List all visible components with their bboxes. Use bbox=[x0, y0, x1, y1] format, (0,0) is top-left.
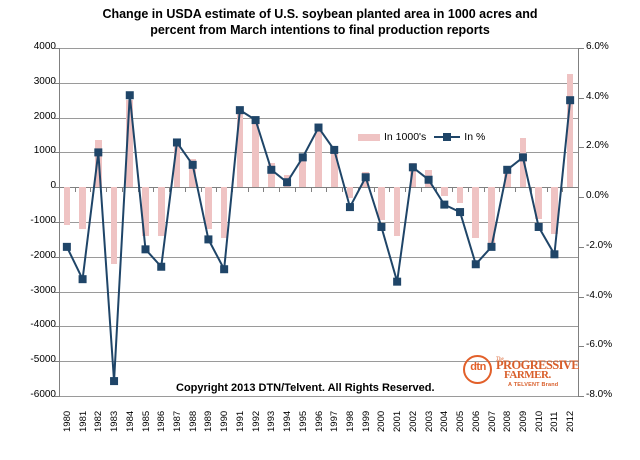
percent-marker-2010 bbox=[535, 223, 543, 231]
x-axis-label-1984: 1984 bbox=[125, 400, 136, 432]
percent-marker-1992 bbox=[252, 116, 260, 124]
x-axis-label-1985: 1985 bbox=[141, 400, 152, 432]
x-axis-tickmark bbox=[578, 187, 579, 192]
logo-farmer-text: FARMER. bbox=[504, 370, 551, 381]
y-axis-right-tick-label: -2.0% bbox=[586, 240, 612, 251]
percent-marker-2005 bbox=[456, 208, 464, 216]
y-axis-left-tickmark bbox=[54, 152, 60, 153]
percent-marker-1989 bbox=[204, 235, 212, 243]
y-axis-right-tick-label: 2.0% bbox=[586, 140, 609, 151]
percent-marker-1984 bbox=[126, 91, 134, 99]
percent-marker-2007 bbox=[488, 243, 496, 251]
x-axis-label-1992: 1992 bbox=[251, 400, 262, 432]
x-axis-label-2010: 2010 bbox=[534, 400, 545, 432]
chart-root: Change in USDA estimate of U.S. soybean … bbox=[0, 0, 640, 460]
percent-marker-2009 bbox=[519, 153, 527, 161]
x-axis-label-2000: 2000 bbox=[376, 400, 387, 432]
y-axis-right-tickmark bbox=[578, 98, 584, 99]
x-axis-label-1990: 1990 bbox=[219, 400, 230, 432]
legend-label-bar: In 1000's bbox=[384, 131, 426, 143]
x-axis-label-1995: 1995 bbox=[298, 400, 309, 432]
x-axis-label-2005: 2005 bbox=[455, 400, 466, 432]
percent-marker-2002 bbox=[409, 163, 417, 171]
y-axis-left-tick-label: -4000 bbox=[30, 319, 56, 330]
x-axis-label-1983: 1983 bbox=[109, 400, 120, 432]
y-axis-right-tickmark bbox=[578, 396, 584, 397]
logo-telvent-brand-text: A TELVENT Brand bbox=[508, 382, 558, 388]
x-axis-label-1981: 1981 bbox=[78, 400, 89, 432]
y-axis-left-tick-label: 0 bbox=[50, 180, 56, 191]
y-axis-right-tick-label: -8.0% bbox=[586, 389, 612, 400]
percent-marker-1993 bbox=[267, 166, 275, 174]
x-axis-label-2001: 2001 bbox=[392, 400, 403, 432]
percent-marker-1995 bbox=[299, 153, 307, 161]
dtn-wordmark: dtn bbox=[466, 361, 490, 373]
percent-marker-1981 bbox=[79, 275, 87, 283]
line-series bbox=[59, 48, 578, 396]
y-axis-left-tick-label: -3000 bbox=[30, 285, 56, 296]
y-axis-left-tick-label: 3000 bbox=[34, 76, 56, 87]
y-axis-left-tick-label: -6000 bbox=[30, 389, 56, 400]
percent-line-path bbox=[67, 95, 570, 381]
x-axis-label-1986: 1986 bbox=[156, 400, 167, 432]
x-axis-label-2011: 2011 bbox=[549, 400, 560, 432]
legend-bar-swatch-icon bbox=[358, 134, 380, 141]
x-axis-label-1997: 1997 bbox=[329, 400, 340, 432]
x-axis-label-1989: 1989 bbox=[203, 400, 214, 432]
y-axis-right-tick-label: 0.0% bbox=[586, 190, 609, 201]
y-axis-left-tick-label: 1000 bbox=[34, 145, 56, 156]
percent-marker-1998 bbox=[346, 203, 354, 211]
x-axis-label-2012: 2012 bbox=[565, 400, 576, 432]
y-axis-left-tickmark bbox=[54, 187, 60, 188]
axis-right-spine bbox=[578, 48, 579, 396]
y-axis-left-tickmark bbox=[54, 48, 60, 49]
x-axis-label-1980: 1980 bbox=[62, 400, 73, 432]
x-axis-label-2004: 2004 bbox=[439, 400, 450, 432]
gridline bbox=[59, 396, 578, 397]
percent-marker-1996 bbox=[315, 124, 323, 132]
legend-item-bar: In 1000's bbox=[358, 131, 426, 143]
legend-line-swatch-icon bbox=[434, 132, 460, 142]
percent-marker-2012 bbox=[566, 96, 574, 104]
y-axis-left-tickmark bbox=[54, 118, 60, 119]
chart-title-line1: Change in USDA estimate of U.S. soybean … bbox=[50, 6, 590, 22]
y-axis-left-tickmark bbox=[54, 396, 60, 397]
percent-marker-1999 bbox=[362, 173, 370, 181]
y-axis-left-tickmark bbox=[54, 361, 60, 362]
legend-label-line: In % bbox=[464, 131, 485, 143]
y-axis-right-tick-label: -4.0% bbox=[586, 290, 612, 301]
percent-marker-2011 bbox=[550, 250, 558, 258]
chart-title: Change in USDA estimate of U.S. soybean … bbox=[50, 6, 590, 38]
y-axis-right-tickmark bbox=[578, 48, 584, 49]
percent-marker-2000 bbox=[377, 223, 385, 231]
percent-marker-1986 bbox=[157, 263, 165, 271]
x-axis-label-1987: 1987 bbox=[172, 400, 183, 432]
y-axis-left-tick-label: 4000 bbox=[34, 41, 56, 52]
percent-marker-1980 bbox=[63, 243, 71, 251]
percent-marker-1994 bbox=[283, 178, 291, 186]
x-axis-label-2009: 2009 bbox=[518, 400, 529, 432]
y-axis-right-tick-label: 4.0% bbox=[586, 91, 609, 102]
x-axis-label-2007: 2007 bbox=[487, 400, 498, 432]
x-axis-label-1999: 1999 bbox=[361, 400, 372, 432]
x-axis-label-1988: 1988 bbox=[188, 400, 199, 432]
legend-item-line: In % bbox=[434, 131, 485, 143]
y-axis-left-tickmark bbox=[54, 222, 60, 223]
percent-marker-1982 bbox=[94, 148, 102, 156]
y-axis-left-tick-label: -5000 bbox=[30, 354, 56, 365]
percent-marker-1997 bbox=[330, 146, 338, 154]
y-axis-right-tickmark bbox=[578, 247, 584, 248]
y-axis-left-tick-label: -2000 bbox=[30, 250, 56, 261]
y-axis-right-tick-label: -6.0% bbox=[586, 339, 612, 350]
y-axis-left-tickmark bbox=[54, 257, 60, 258]
x-axis-label-2003: 2003 bbox=[424, 400, 435, 432]
x-axis-label-1993: 1993 bbox=[266, 400, 277, 432]
y-axis-right-tickmark bbox=[578, 346, 584, 347]
y-axis-right-tickmark bbox=[578, 147, 584, 148]
percent-marker-1987 bbox=[173, 138, 181, 146]
percent-marker-1983 bbox=[110, 377, 118, 385]
percent-marker-2006 bbox=[472, 260, 480, 268]
x-axis-label-2002: 2002 bbox=[408, 400, 419, 432]
percent-marker-1990 bbox=[220, 265, 228, 273]
x-axis-label-1998: 1998 bbox=[345, 400, 356, 432]
dtn-progressive-farmer-logo: dtn The PROGRESSIVE FARMER. A TELVENT Br… bbox=[463, 349, 575, 391]
y-axis-right-tickmark bbox=[578, 297, 584, 298]
x-axis-label-2006: 2006 bbox=[471, 400, 482, 432]
y-axis-right-tick-label: 6.0% bbox=[586, 41, 609, 52]
x-axis-label-2008: 2008 bbox=[502, 400, 513, 432]
percent-marker-1991 bbox=[236, 106, 244, 114]
percent-marker-2004 bbox=[440, 201, 448, 209]
x-axis-label-1982: 1982 bbox=[93, 400, 104, 432]
percent-marker-2001 bbox=[393, 278, 401, 286]
percent-marker-1985 bbox=[142, 245, 150, 253]
x-axis-label-1991: 1991 bbox=[235, 400, 246, 432]
y-axis-left-tick-label: 2000 bbox=[34, 111, 56, 122]
y-axis-left-tick-label: -1000 bbox=[30, 215, 56, 226]
y-axis-right-tickmark bbox=[578, 197, 584, 198]
percent-marker-2008 bbox=[503, 166, 511, 174]
y-axis-left-tickmark bbox=[54, 292, 60, 293]
chart-title-line2: percent from March intentions to final p… bbox=[50, 22, 590, 38]
y-axis-left-tickmark bbox=[54, 326, 60, 327]
percent-marker-2003 bbox=[425, 176, 433, 184]
copyright-notice: Copyright 2013 DTN/Telvent. All Rights R… bbox=[176, 382, 435, 394]
y-axis-left-tickmark bbox=[54, 83, 60, 84]
x-axis-label-1996: 1996 bbox=[314, 400, 325, 432]
percent-marker-1988 bbox=[189, 161, 197, 169]
x-axis-label-1994: 1994 bbox=[282, 400, 293, 432]
chart-legend: In 1000's In % bbox=[358, 131, 485, 143]
